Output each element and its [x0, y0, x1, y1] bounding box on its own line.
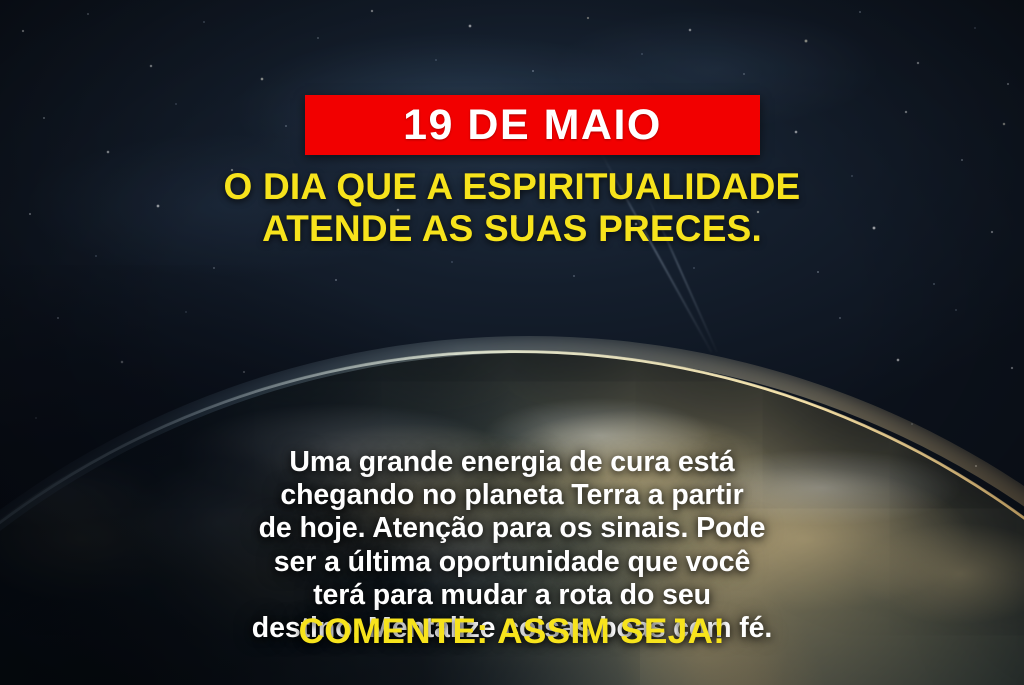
call-to-action-text: COMENTE: ASSIM SEJA! [0, 614, 1024, 649]
date-banner-text: 19 DE MAIO [403, 104, 662, 147]
body-line-4: ser a última oportunidade que você [62, 546, 962, 579]
body-line-5: terá para mudar a rota do seu [62, 579, 962, 612]
headline-line-1: O DIA QUE A ESPIRITUALIDADE [0, 166, 1024, 208]
body-line-2: chegando no planeta Terra a partir [62, 479, 962, 512]
headline-line-2: ATENDE AS SUAS PRECES. [0, 208, 1024, 250]
body-line-1: Uma grande energia de cura está [62, 446, 962, 479]
date-banner: 19 DE MAIO [305, 95, 760, 155]
body-line-3: de hoje. Atenção para os sinais. Pode [62, 512, 962, 545]
text-layer: 19 DE MAIO O DIA QUE A ESPIRITUALIDADE A… [0, 0, 1024, 685]
headline: O DIA QUE A ESPIRITUALIDADE ATENDE AS SU… [0, 166, 1024, 250]
poster-canvas: 19 DE MAIO O DIA QUE A ESPIRITUALIDADE A… [0, 0, 1024, 685]
